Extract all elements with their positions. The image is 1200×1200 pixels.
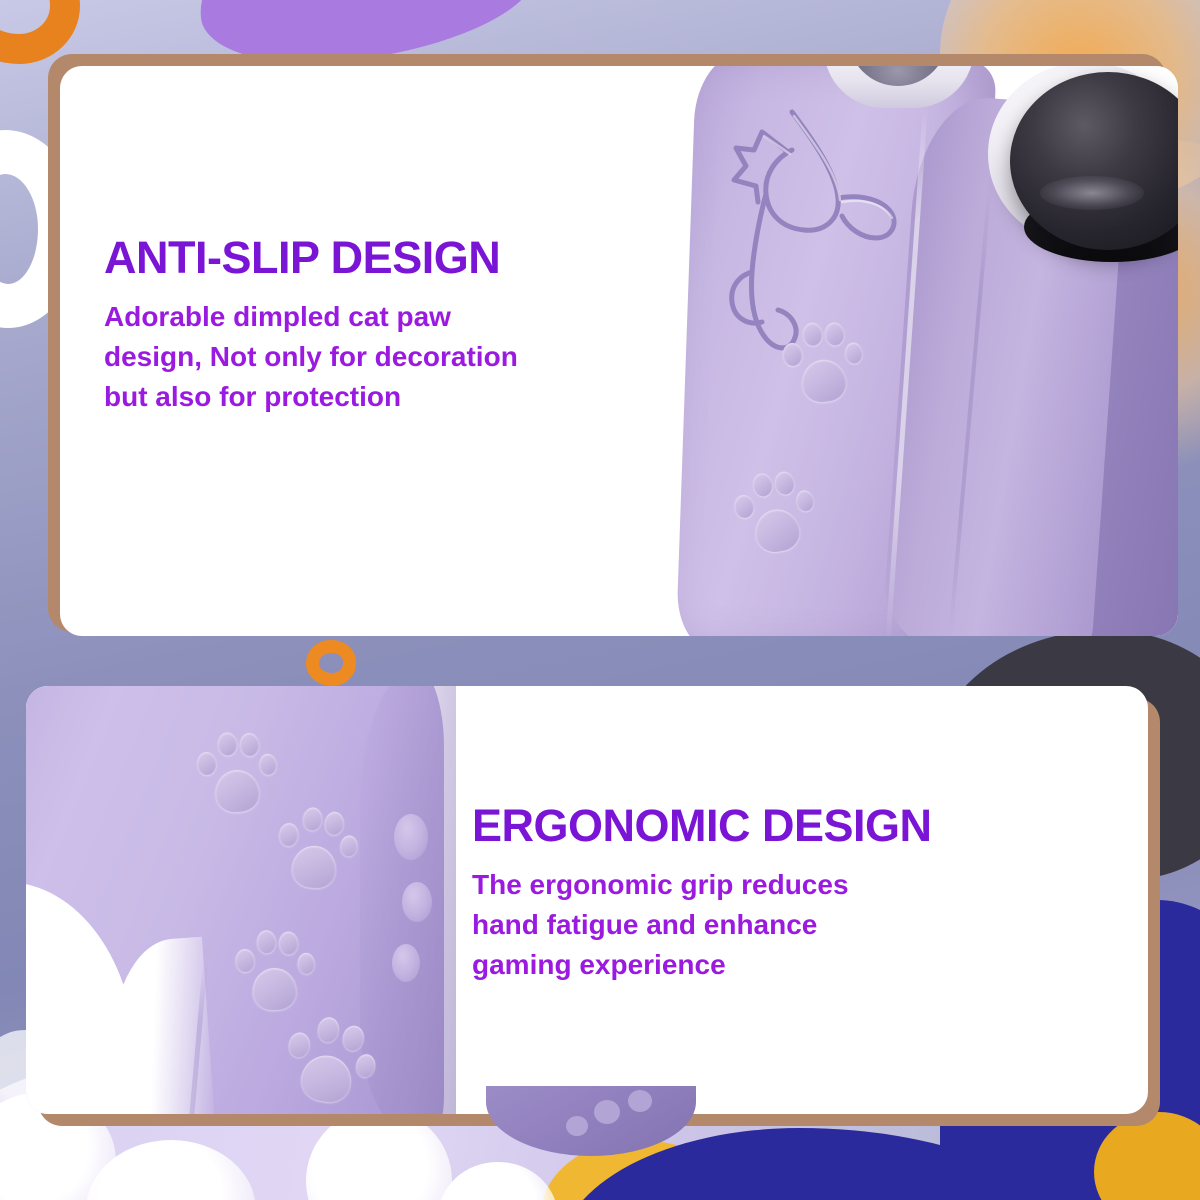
paw-print-emboss-icon [230, 925, 317, 1018]
paw-toe [324, 811, 345, 836]
grip-bump [392, 944, 420, 982]
headline-ergonomic: ERGONOMIC DESIGN [472, 802, 1132, 849]
paw-toe [316, 1016, 341, 1044]
paw-toe [773, 470, 796, 496]
paw-toe [339, 835, 358, 858]
paw-pad [214, 768, 261, 813]
paw-toe [259, 753, 277, 775]
paw-print-emboss-icon [191, 725, 281, 821]
feature-copy-ergonomic: ERGONOMIC DESIGN The ergonomic grip redu… [472, 802, 1132, 985]
headline-anti-slip: ANTI-SLIP DESIGN [104, 234, 704, 281]
paw-pad [298, 1052, 355, 1106]
paw-toe [287, 1031, 312, 1059]
paw-toe [354, 1053, 377, 1079]
paw-print-emboss-icon [276, 1009, 383, 1114]
paw-toe [279, 931, 299, 955]
paw-bump [566, 1116, 588, 1136]
grip-bump [394, 814, 428, 860]
paw-pad [800, 358, 848, 404]
paw-print-emboss-icon [270, 800, 363, 898]
paw-bump [628, 1090, 652, 1112]
paw-toe [196, 751, 217, 775]
paw-toe [302, 807, 323, 832]
banner-stage: ANTI-SLIP DESIGN Adorable dimpled cat pa… [0, 0, 1200, 1200]
body-copy-ergonomic: The ergonomic grip reduces hand fatigue … [472, 865, 1132, 984]
paw-bump [594, 1100, 620, 1124]
product-image-anti-slip [668, 66, 1178, 636]
paw-pad [252, 967, 297, 1011]
body-line: but also for protection [104, 377, 704, 417]
paw-toe [297, 953, 315, 975]
paw-toe [782, 342, 803, 367]
body-copy-anti-slip: Adorable dimpled cat paw design, Not onl… [104, 297, 704, 416]
paw-toe [824, 321, 845, 346]
body-line: Adorable dimpled cat paw [104, 297, 704, 337]
paw-toe [751, 472, 774, 498]
paw-print-emboss-icon [723, 459, 824, 565]
paw-toe [733, 493, 756, 519]
paw-toe [341, 1024, 366, 1052]
paw-pad [752, 506, 803, 555]
body-line: design, Not only for decoration [104, 337, 704, 377]
paw-toe [278, 822, 299, 847]
analog-stick-highlight [1040, 176, 1144, 210]
paw-toe [844, 342, 863, 365]
feature-copy-anti-slip: ANTI-SLIP DESIGN Adorable dimpled cat pa… [104, 234, 704, 417]
feature-panel-ergonomic: ERGONOMIC DESIGN The ergonomic grip redu… [26, 686, 1148, 1114]
body-line: hand fatigue and enhance [472, 905, 1132, 945]
paw-toe [795, 489, 815, 513]
feature-panel-anti-slip: ANTI-SLIP DESIGN Adorable dimpled cat pa… [60, 66, 1178, 636]
paw-toe [239, 732, 260, 756]
paw-print-emboss-icon [773, 312, 868, 412]
orange-ring-divider [306, 640, 356, 686]
paw-toe [257, 930, 277, 954]
paw-toe [217, 732, 238, 756]
body-line: gaming experience [472, 945, 1132, 985]
product-image-ergonomic [26, 686, 456, 1114]
grip-bump [402, 882, 432, 922]
body-line: The ergonomic grip reduces [472, 865, 1132, 905]
paw-toe [235, 949, 255, 973]
paw-pad [290, 844, 338, 890]
paw-toe [802, 322, 823, 347]
